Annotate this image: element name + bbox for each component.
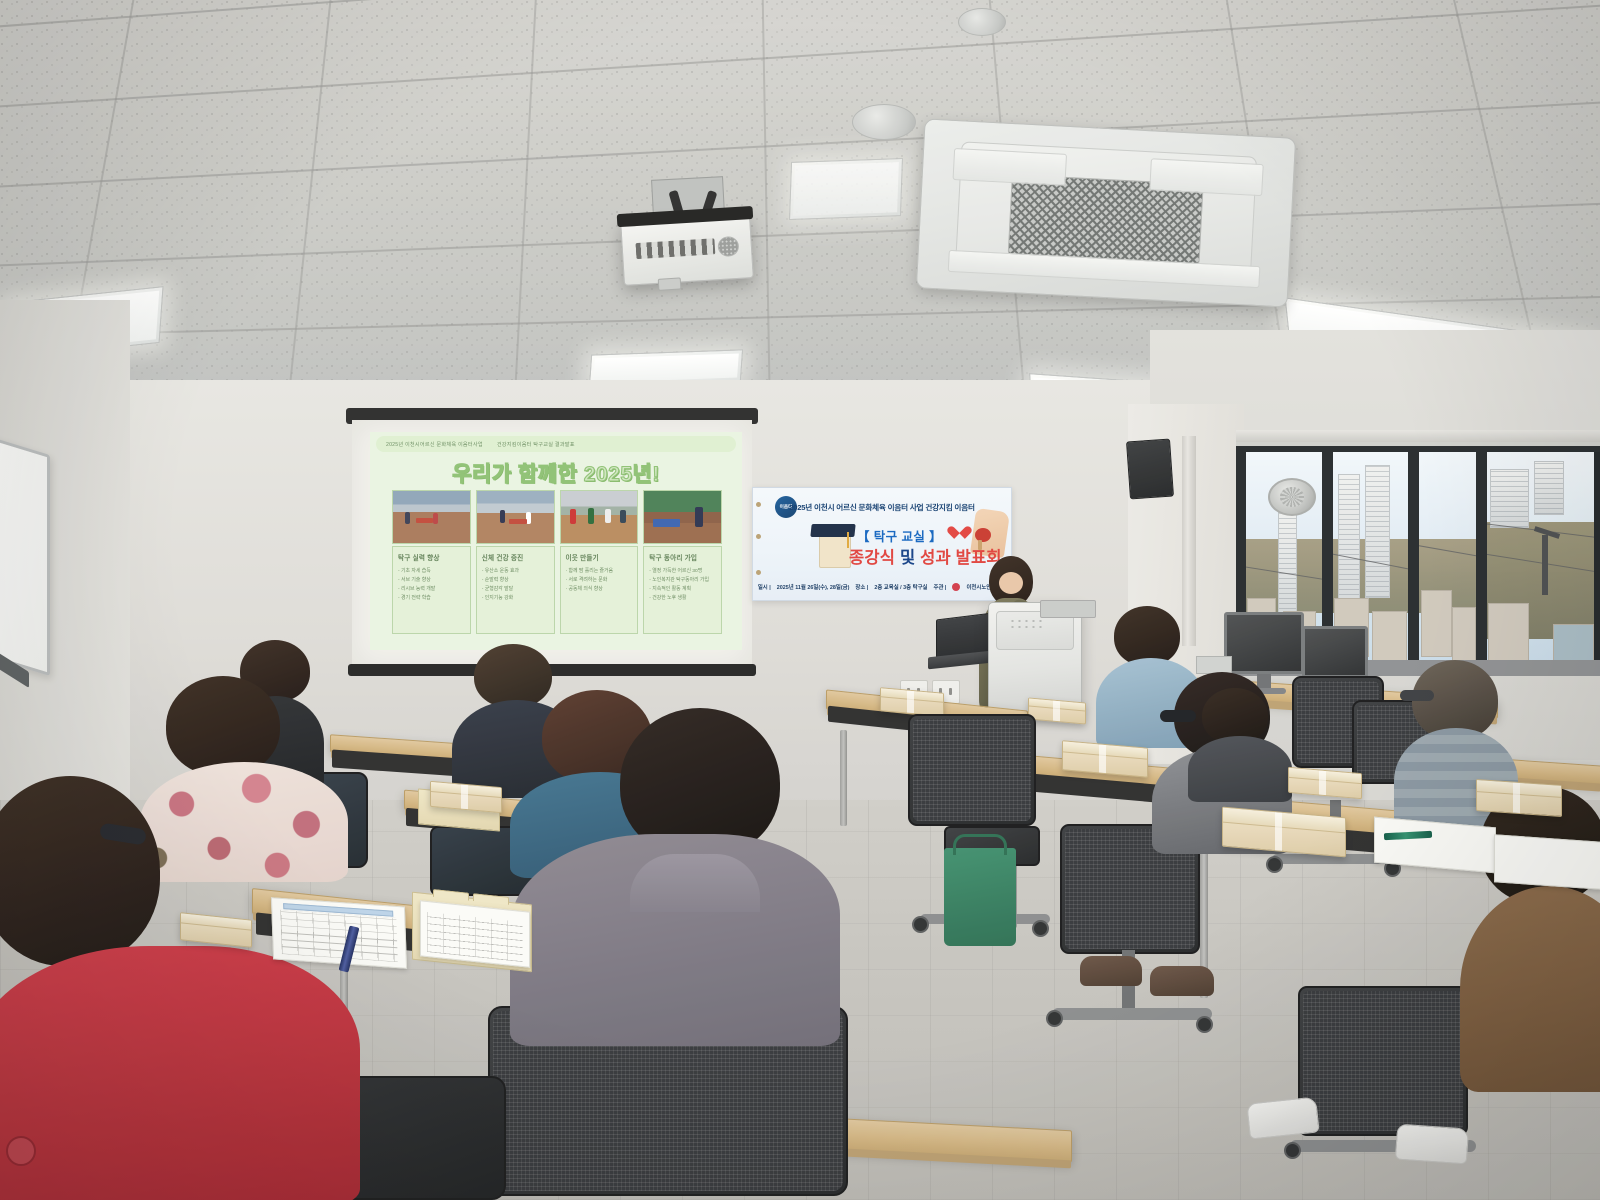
banner-title-part2: 및 (900, 549, 915, 567)
attendance-sheet (271, 897, 407, 969)
attendee-red-jacket (0, 776, 360, 1200)
jacket-button (6, 1136, 36, 1166)
slide-bullet: - 건강한 노후 생활 (649, 594, 717, 603)
slide-bullet: - 유산소 운동 효과 (482, 567, 550, 576)
banner-footer: 일시 | 2025년 11월 26일(수), 28일(금) 장소 | 2층 교육… (753, 581, 1011, 593)
slide-bullet: - 리시브 능력 개발 (398, 585, 466, 594)
slide-title: 우리가 함께한 2025년! (370, 458, 742, 488)
office-chair (1298, 986, 1468, 1136)
host-logo-icon (952, 583, 960, 591)
screen-surface: 2025년 이천시어르신 문화체육 이음터사업 건강지킴이음터 탁구교실 결과발… (352, 420, 752, 668)
slide-photo-row (392, 490, 722, 544)
shoe (1150, 966, 1214, 996)
slide-bullet: - 열정 가득한 어르신 30명 (649, 567, 717, 576)
window-mullion (1476, 446, 1487, 676)
classroom-photo-scene: 2025년 이천시어르신 문화체육 이음터사업 건강지킴이음터 탁구교실 결과발… (0, 0, 1600, 1200)
shoe (1080, 956, 1142, 986)
slide-bullet: - 순발력 향상 (482, 576, 550, 585)
slide-photo (392, 490, 471, 544)
slide-column-list: - 함께 땀 흘리는 즐거움 - 서로 격려하는 문화 - 공동체 의식 향상 (566, 567, 634, 594)
table-leg (840, 730, 847, 826)
banner-place: 2층 교육실 / 3층 탁구실 (874, 583, 927, 591)
gift-box (1288, 767, 1362, 799)
wall-exhaust-fan (1268, 478, 1316, 516)
slide-bullet: - 인지기능 강화 (482, 594, 550, 603)
slide-bullet: - 서브 기술 향상 (398, 576, 466, 585)
window-pane (1418, 452, 1476, 670)
slide-column-heading: 탁구 동아리 가입 (649, 552, 717, 562)
wall-speaker (1126, 439, 1174, 500)
document-sheet (1494, 834, 1600, 890)
chair-caster (912, 916, 929, 933)
projection-screen: 2025년 이천시어르신 문화체육 이음터사업 건강지킴이음터 탁구교실 결과발… (352, 420, 752, 668)
presenter-face (999, 572, 1023, 594)
window-pane (1486, 452, 1594, 670)
slide-photo (560, 490, 639, 544)
slide-column: 탁구 동아리 가입 - 열정 가득한 어르신 30명 - 노인복지관 탁구동아리… (643, 546, 722, 634)
slide-column-heading: 탁구 실력 향상 (398, 552, 466, 562)
window-top-frame (1236, 446, 1600, 452)
chair-caster (1046, 1010, 1063, 1027)
jacket-hood (630, 854, 760, 912)
slide-column-list: - 열정 가득한 어르신 30명 - 노인복지관 탁구동아리 가입 - 지속적인… (649, 567, 717, 603)
banner-title-part1: 종강식 (849, 549, 895, 567)
slide-header-left: 2025년 이천시어르신 문화체육 이음터사업 (386, 441, 483, 448)
window-header-beam (1236, 430, 1600, 442)
ceiling-air-conditioner (916, 118, 1296, 307)
slide-column-list: - 기초 자세 습득 - 서브 기술 향상 - 리시브 능력 개발 - 경기 전… (398, 567, 466, 603)
attendee-back-right (1188, 688, 1292, 798)
slide-column-list: - 유산소 운동 효과 - 순발력 향상 - 균형감각 발달 - 인지기능 강화 (482, 567, 550, 603)
banner-org-line: 2025년 이천시 어르신 문화체육 이음터 사업 건강지킴 이음터 (753, 500, 1011, 514)
slide-bullet: - 지속적인 활동 계획 (649, 585, 717, 594)
smoke-detector (958, 8, 1006, 36)
chair-caster (1284, 1142, 1301, 1159)
window-mullion (1408, 446, 1419, 676)
office-chair (908, 714, 1036, 826)
chair-caster (1196, 1016, 1213, 1033)
slide-photo (643, 490, 722, 544)
slide-column-row: 탁구 실력 향상 - 기초 자세 습득 - 서브 기술 향상 - 리시브 능력 … (392, 546, 722, 634)
chair-base (1052, 1008, 1212, 1020)
slide-bullet: - 함께 땀 흘리는 즐거움 (566, 567, 634, 576)
slide-bullet: - 공동체 의식 향상 (566, 585, 634, 594)
banner-place-label: 장소 | (855, 583, 868, 591)
slide-header: 2025년 이천시어르신 문화체육 이음터사업 건강지킴이음터 탁구교실 결과발… (376, 436, 736, 452)
slide-column-heading: 신체 건강 증진 (482, 552, 550, 562)
banner-title-bracket: 【 탁구 교실 】 (857, 526, 942, 545)
slide-bullet: - 서로 격려하는 문화 (566, 576, 634, 585)
smoke-detector (852, 104, 916, 140)
whiteboard (0, 435, 50, 676)
slide-bullet: - 노인복지관 탁구동아리 가입 (649, 576, 717, 585)
attendee-gray-puffer (510, 708, 840, 1038)
slide-photo (476, 490, 555, 544)
slide-column: 탁구 실력 향상 - 기초 자세 습득 - 서브 기술 향상 - 리시브 능력 … (392, 546, 471, 634)
ceiling-projector (620, 214, 754, 286)
slide-bullet: - 기초 자세 습득 (398, 567, 466, 576)
ceiling-light-panel (789, 158, 903, 220)
desktop-monitor (1302, 626, 1368, 678)
slide-column: 이웃 만들기 - 함께 땀 흘리는 즐거움 - 서로 격려하는 문화 - 공동체… (560, 546, 639, 634)
podium-top-ledge (1040, 600, 1096, 618)
banner-host-label: 주관 | (934, 583, 947, 591)
desktop-monitor (1224, 612, 1304, 674)
slide-column: 신체 건강 증진 - 유산소 운동 효과 - 순발력 향상 - 균형감각 발달 … (476, 546, 555, 634)
gift-box (1476, 779, 1562, 817)
utility-pole (1542, 535, 1548, 595)
sneaker (1246, 1096, 1319, 1139)
heart-icon (953, 524, 967, 537)
banner-date-label: 일시 | (758, 583, 771, 591)
presentation-slide: 2025년 이천시어르신 문화체육 이음터사업 건강지킴이음터 탁구교실 결과발… (370, 432, 742, 650)
sneaker (1395, 1124, 1469, 1165)
chair-caster (1266, 856, 1283, 873)
tote-bag (944, 848, 1016, 946)
chair-caster (1032, 920, 1049, 937)
event-banner: 이음터 2025년 이천시 어르신 문화체육 이음터 사업 건강지킴 이음터 【… (752, 487, 1012, 601)
ping-pong-paddle-icon (975, 528, 991, 542)
slide-bullet: - 균형감각 발달 (482, 585, 550, 594)
eyeglasses (1400, 690, 1434, 701)
slide-bullet: - 경기 전략 학습 (398, 594, 466, 603)
slide-column-heading: 이웃 만들기 (566, 552, 634, 562)
attendance-sheet (420, 900, 530, 968)
slide-header-right: 건강지킴이음터 탁구교실 결과발표 (497, 441, 575, 448)
banner-date: 2025년 11월 26일(수), 28일(금) (777, 583, 850, 591)
